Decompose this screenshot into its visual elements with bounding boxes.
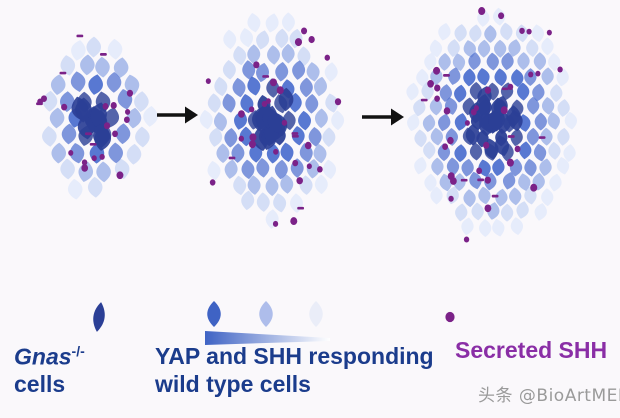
secreted-shh-dot (535, 71, 540, 77)
legend-gnas-superscript: -/- (72, 343, 85, 359)
cell (484, 25, 496, 43)
legend-yap-cell-icon-3 (309, 301, 323, 327)
secreted-shh-dot (292, 160, 298, 166)
cell (490, 218, 506, 238)
secreted-shh-dot (210, 179, 216, 185)
secreted-shh-dash (502, 87, 509, 90)
cell (437, 22, 453, 42)
secreted-shh-dot (61, 104, 67, 111)
secreted-shh-dot (308, 36, 314, 43)
secreted-shh-dot (253, 61, 259, 68)
secreted-shh-dot (273, 149, 278, 155)
secreted-shh-dot (434, 84, 440, 91)
cell (479, 219, 492, 237)
cell (216, 143, 229, 163)
secreted-shh-dot (41, 95, 47, 102)
legend-secreted-shh-dot-icon (445, 312, 454, 322)
cell (510, 216, 525, 235)
secreted-shh-dot (249, 133, 256, 141)
secreted-shh-dot (476, 168, 482, 175)
secreted-shh-dash (229, 157, 236, 160)
arrow-2 (362, 109, 404, 126)
cell (265, 176, 278, 196)
cell (300, 77, 314, 97)
secreted-shh-dash (100, 53, 107, 56)
cell (322, 159, 338, 180)
cell (548, 173, 563, 193)
secreted-shh-dot (444, 107, 451, 114)
cell (69, 70, 87, 93)
secreted-shh-dash (60, 72, 67, 75)
secreted-shh-dash (292, 132, 299, 135)
secreted-shh-dash (443, 74, 450, 77)
cell (221, 92, 238, 114)
secreted-shh-dot (68, 150, 73, 156)
cell (453, 84, 467, 103)
secreted-shh-dot (465, 120, 470, 126)
secreted-shh-dot (125, 109, 130, 115)
secreted-shh-dot (112, 131, 118, 138)
secreted-shh-dot (116, 171, 123, 179)
secreted-shh-dot (557, 67, 562, 73)
secreted-shh-dot (528, 72, 533, 78)
cell (232, 175, 248, 196)
secreted-shh-dot (498, 12, 504, 19)
cell (555, 68, 570, 88)
secreted-shh-dot (124, 116, 130, 123)
cell (431, 157, 444, 175)
cell (541, 67, 554, 86)
cell (556, 127, 570, 146)
cell (289, 193, 303, 213)
secreted-shh-dot (103, 103, 109, 110)
secreted-shh-dot (282, 120, 287, 126)
secreted-shh-dot (111, 102, 117, 109)
secreted-shh-dot (515, 146, 521, 153)
secreted-shh-dot (290, 217, 297, 225)
cell (86, 37, 101, 58)
cell (471, 202, 485, 221)
cell (51, 142, 67, 164)
secreted-shh-dot (99, 154, 104, 160)
legend-yap-cell-icon-1 (207, 301, 221, 327)
cell (508, 187, 522, 206)
cell (534, 52, 546, 70)
secreted-shh-dot (530, 184, 537, 192)
cell (453, 23, 468, 42)
secreted-shh-dot (206, 78, 211, 84)
secreted-shh-dot (478, 7, 485, 15)
cell (315, 174, 328, 194)
cell (222, 29, 237, 50)
cell (454, 144, 467, 163)
cell (322, 127, 335, 147)
secreted-shh-dot (273, 221, 278, 227)
secreted-shh-dot (295, 38, 302, 46)
cell (224, 128, 238, 148)
secreted-shh-dot (427, 80, 434, 88)
secreted-shh-dot (464, 236, 469, 242)
secreted-shh-dot (301, 27, 307, 34)
cell (198, 109, 214, 130)
secreted-shh-dot (305, 142, 312, 150)
secreted-shh-dash (461, 179, 468, 182)
secreted-shh-dash (539, 136, 546, 139)
secreted-shh-dot (335, 98, 341, 105)
secreted-shh-dot (507, 159, 514, 167)
secreted-shh-dash (421, 99, 428, 102)
secreted-shh-dot (526, 29, 531, 35)
secreted-shh-dot (325, 55, 330, 61)
secreted-shh-dot (448, 196, 453, 202)
legend-yap-cell-icon-2 (259, 301, 273, 327)
legend-gnas-gene: Gnas (14, 344, 72, 370)
clusters-group (36, 7, 578, 242)
legend-gnas-cell-icon (91, 301, 106, 332)
secreted-shh-dot (485, 177, 491, 184)
arrow-head (185, 107, 198, 124)
legend-gnas-line2: cells (14, 372, 85, 398)
cell (491, 157, 506, 177)
arrow-head (391, 109, 404, 126)
secreted-shh-dot (296, 177, 303, 184)
cell (405, 82, 420, 101)
cell (305, 94, 319, 114)
cell (247, 44, 260, 64)
legend-yap-line1: YAP and SHH responding (155, 343, 434, 369)
cell (324, 62, 339, 83)
secreted-shh-dash (492, 195, 499, 198)
cell (438, 53, 451, 71)
secreted-shh-dot (238, 110, 245, 118)
secreted-shh-dot (483, 142, 489, 149)
cell (525, 39, 539, 58)
secreted-shh-dot (501, 106, 508, 114)
cell (222, 59, 237, 80)
secreted-shh-dot (104, 122, 110, 129)
secreted-shh-dash (76, 35, 83, 38)
secreted-shh-dot (277, 86, 284, 94)
cell (265, 209, 279, 230)
cell (550, 84, 563, 102)
secreted-shh-dash (477, 179, 484, 182)
cell (264, 12, 281, 34)
legend-yap-shh-cells: YAP and SHH responding wild type cells (155, 344, 434, 398)
secreted-shh-dot (249, 106, 254, 112)
legend-icons-group (91, 301, 454, 345)
secreted-shh-dot (307, 163, 312, 169)
cell (423, 141, 435, 159)
secreted-shh-dash (292, 135, 299, 138)
cell (49, 107, 65, 129)
watermark: 头条 @BioArtMED (478, 381, 620, 406)
cell (517, 52, 530, 70)
legend-yap-line2: wild type cells (155, 372, 434, 398)
cell (535, 113, 547, 131)
cell (412, 155, 428, 175)
secreted-shh-dot (485, 87, 491, 94)
secreted-shh-dash (297, 207, 304, 210)
secreted-shh-dot (474, 105, 479, 111)
cell (468, 24, 482, 43)
secreted-shh-dot (519, 28, 525, 34)
cell (501, 204, 513, 222)
cell (60, 158, 76, 180)
cell (478, 39, 491, 57)
secreted-shh-dot (317, 166, 323, 172)
figure-canvas: Gnas-/- cells YAP and SHH responding wil… (0, 0, 620, 418)
secreted-shh-dot (266, 98, 271, 104)
cell (523, 158, 538, 178)
cell (256, 192, 270, 212)
secreted-shh-dot (92, 155, 97, 161)
cell (282, 12, 295, 32)
cell (279, 142, 295, 164)
cell (266, 45, 280, 66)
cell (527, 128, 540, 146)
cell (463, 189, 477, 208)
secreted-shh-dot (239, 136, 244, 142)
secreted-shh-dot (547, 30, 552, 36)
cell (207, 93, 222, 114)
secreted-shh-dot (442, 143, 448, 150)
secreted-shh-dash (262, 75, 269, 78)
secreted-shh-dot (433, 67, 440, 75)
secreted-shh-dot (434, 96, 440, 102)
secreted-shh-dot (447, 137, 454, 144)
cell (107, 38, 123, 60)
cell (499, 22, 514, 41)
arrow-1 (157, 107, 198, 124)
cell (206, 160, 222, 181)
cell (135, 126, 151, 148)
legend-gnas-cells: Gnas-/- cells (14, 344, 85, 398)
cell (282, 44, 295, 64)
cell (331, 110, 345, 130)
cell (548, 141, 562, 160)
cell (518, 141, 532, 160)
secreted-shh-dash (508, 135, 515, 138)
cell (541, 37, 553, 55)
secreted-shh-dot (81, 164, 88, 172)
secreted-shh-dot (450, 177, 457, 185)
secreted-shh-dot (270, 78, 277, 86)
cell (41, 125, 57, 147)
cell (494, 40, 507, 58)
secreted-shh-dot (485, 204, 492, 212)
legend-secreted-shh: Secreted SHH (455, 338, 607, 364)
secreted-shh-dot (249, 140, 256, 148)
secreted-shh-dash (90, 143, 97, 146)
cell (213, 76, 229, 98)
secreted-shh-dash (85, 132, 92, 135)
cell (315, 108, 329, 128)
cell (126, 143, 142, 165)
cell (67, 178, 84, 200)
secreted-shh-dot (127, 90, 133, 97)
cell (274, 61, 289, 82)
